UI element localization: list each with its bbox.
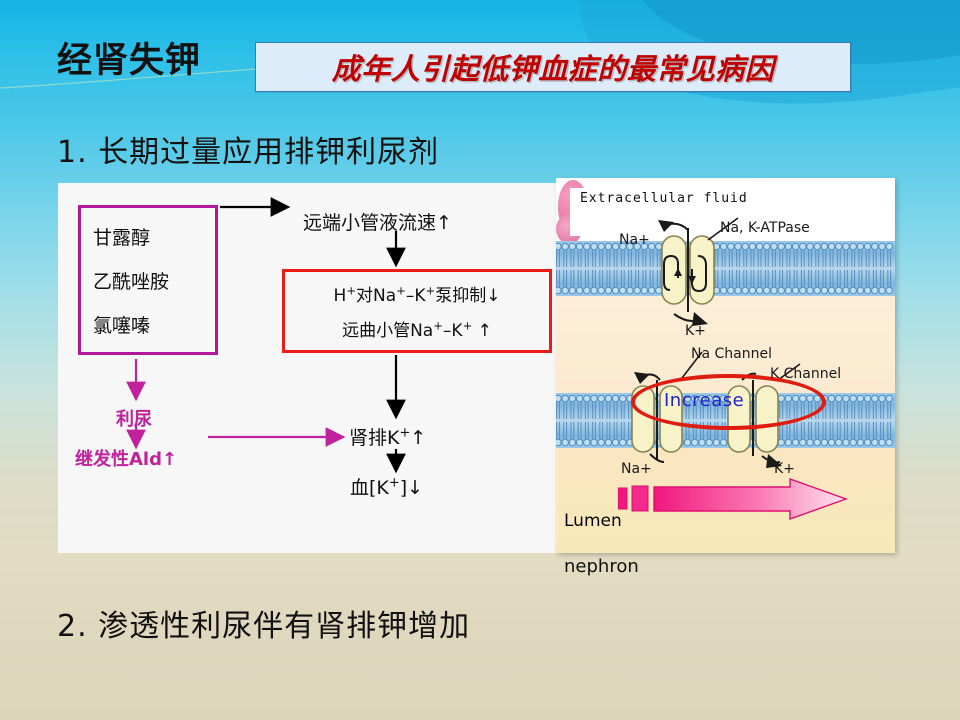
drug-item-mannitol: 甘露醇 <box>93 223 215 250</box>
increase-label: Increase <box>664 390 744 411</box>
label-na-bottom: Na+ <box>621 461 652 477</box>
mechanism-line-2: 远曲小管Na+–K+ ↑ <box>342 316 492 341</box>
figure-caption-nephron: nephron <box>564 556 639 577</box>
label-na-top: Na+ <box>619 232 650 248</box>
flow-node-diuresis: 利尿 <box>116 405 152 431</box>
subtitle-text: 成年人引起低钾血症的最常见病因 <box>332 46 775 88</box>
mechanism-line-1: H+对Na+–K+泵抑制↓ <box>334 281 501 306</box>
label-na-k-atpase: Na, K-ATPase <box>720 220 810 236</box>
subtitle-callout-box: 成年人引起低钾血症的最常见病因 <box>255 42 851 92</box>
label-extracellular-fluid: Extracellular fluid <box>580 191 748 206</box>
bullet-item-1: 1. 长期过量应用排钾利尿剂 <box>57 127 439 171</box>
label-k-bottom: K+ <box>774 461 795 477</box>
drug-item-chlorothiazide: 氯噻嗪 <box>93 311 215 338</box>
label-k-channel: K Channel <box>770 366 841 382</box>
diuretic-drug-box: 甘露醇 乙酰唑胺 氯噻嗪 <box>78 205 218 355</box>
mechanism-red-box: H+对Na+–K+泵抑制↓ 远曲小管Na+–K+ ↑ <box>282 269 552 353</box>
slide-canvas: 经肾失钾 成年人引起低钾血症的最常见病因 1. 长期过量应用排钾利尿剂 2. 渗… <box>0 0 960 720</box>
page-title: 经肾失钾 <box>57 44 201 79</box>
flow-node-distal-flow: 远端小管液流速↑ <box>303 208 452 235</box>
label-lumen: Lumen <box>564 511 622 531</box>
cell-membrane-figure: Increase Extracellular fluid Na, K-ATPas… <box>556 178 895 553</box>
flow-diagram-panel: 甘露醇 乙酰唑胺 氯噻嗪 远端小管液流速↑ H+对Na+–K+泵抑制↓ 远曲小管… <box>58 183 566 553</box>
drug-item-acetazolamide: 乙酰唑胺 <box>93 267 215 294</box>
label-k-top: K+ <box>685 323 706 339</box>
flow-node-secondary-aldosterone: 继发性Ald↑ <box>75 445 177 471</box>
flow-node-blood-k: 血[K+]↓ <box>350 473 423 500</box>
flow-node-renal-k-excretion: 肾排K+↑ <box>349 423 426 450</box>
lumen-flow-arrow-icon <box>618 478 858 520</box>
label-na-channel: Na Channel <box>691 346 772 362</box>
bullet-item-2: 2. 渗透性利尿伴有肾排钾增加 <box>57 601 470 645</box>
basolateral-membrane <box>556 241 895 296</box>
